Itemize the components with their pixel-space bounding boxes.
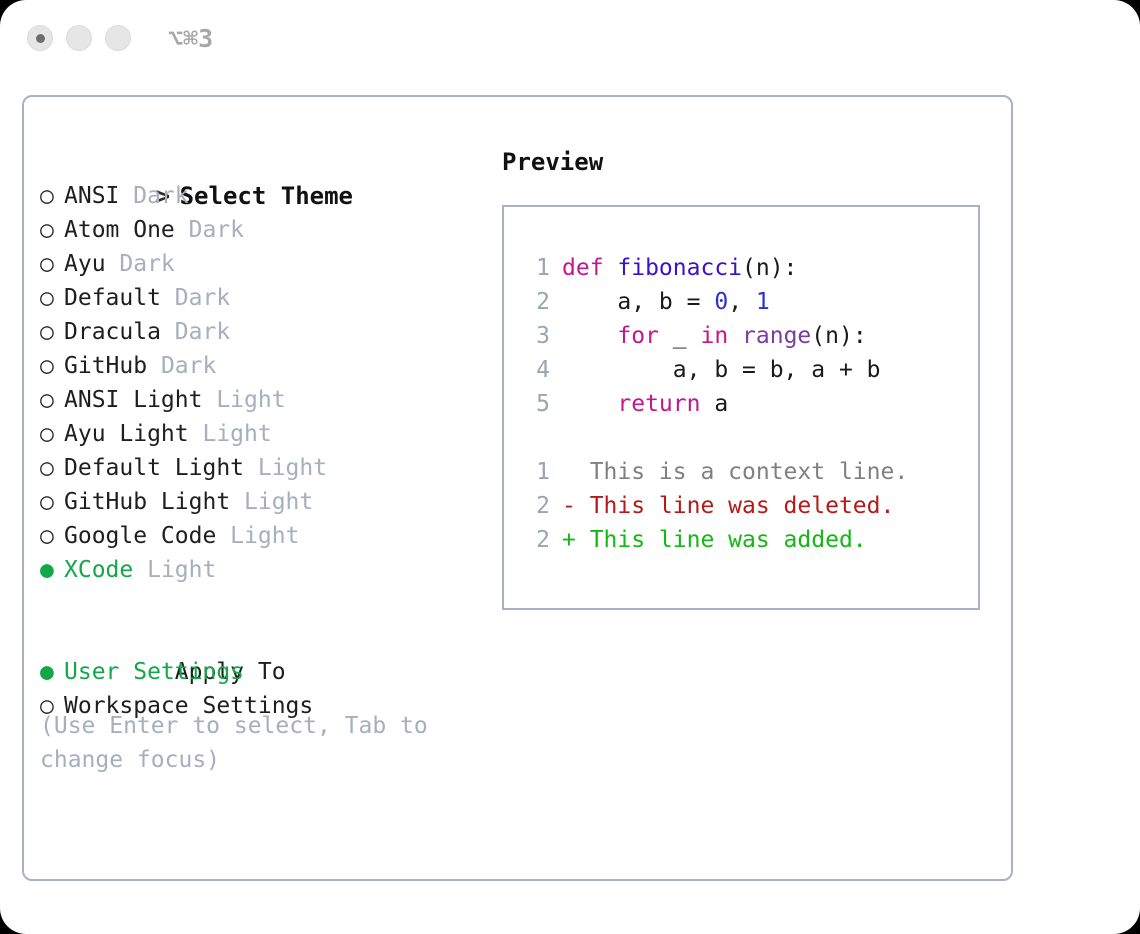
theme-list-item[interactable]: ○Default Dark	[40, 281, 490, 315]
select-theme-header-label: Select Theme	[180, 182, 353, 210]
code-line: 3 for _ in range(n):	[504, 319, 978, 353]
theme-name: ANSI	[64, 183, 119, 209]
keyboard-shortcut-label: ⌥⌘3	[168, 24, 213, 54]
theme-kind-badge: Dark	[119, 183, 188, 209]
theme-name: GitHub	[64, 353, 147, 379]
code-line-number: 4	[524, 353, 550, 387]
theme-name: Atom One	[64, 217, 175, 243]
code-line: 5 return a	[504, 387, 978, 421]
code-line-number: 3	[524, 319, 550, 353]
code-token: 1	[756, 289, 770, 315]
code-line-number: 2	[524, 285, 550, 319]
theme-kind-badge: Dark	[147, 353, 216, 379]
code-line-number: 1	[524, 251, 550, 285]
theme-selector-column: >Select Theme ○ANSI Dark○Atom One Dark○A…	[40, 145, 490, 723]
code-token: ,	[728, 289, 756, 315]
diff-line-number: 2	[524, 489, 550, 523]
diff-line-number: 2	[524, 523, 550, 557]
radio-unselected-icon: ○	[40, 281, 64, 315]
radio-unselected-icon: ○	[40, 213, 64, 247]
theme-name: XCode	[64, 557, 133, 583]
diff-line-text: + This line was added.	[562, 527, 867, 553]
radio-selected-icon: ●	[40, 553, 64, 587]
preview-column: Preview 1def fibonacci(n):2 a, b = 0, 13…	[502, 145, 992, 610]
theme-name: Default	[64, 285, 161, 311]
radio-unselected-icon: ○	[40, 315, 64, 349]
code-token: a, b =	[562, 289, 714, 315]
theme-list-item[interactable]: ○Atom One Dark	[40, 213, 490, 247]
code-token: range	[742, 323, 811, 349]
theme-kind-badge: Light	[244, 455, 327, 481]
theme-name: Google Code	[64, 523, 216, 549]
radio-unselected-icon: ○	[40, 383, 64, 417]
theme-kind-badge: Light	[133, 557, 216, 583]
radio-unselected-icon: ○	[40, 247, 64, 281]
code-token: 0	[714, 289, 728, 315]
code-line: 1def fibonacci(n):	[504, 251, 978, 285]
diff-line: 1 This is a context line.	[504, 455, 978, 489]
radio-selected-icon: ●	[40, 655, 64, 689]
theme-name: Ayu Light	[64, 421, 189, 447]
diff-line-text: - This line was deleted.	[562, 493, 894, 519]
select-theme-header: >Select Theme	[40, 145, 490, 179]
code-line: 4 a, b = b, a + b	[504, 353, 978, 387]
theme-list-item[interactable]: ○ANSI Light Light	[40, 383, 490, 417]
theme-list-item[interactable]: ○Dracula Dark	[40, 315, 490, 349]
theme-list: ○ANSI Dark○Atom One Dark○Ayu Dark○Defaul…	[40, 179, 490, 587]
diff-line: 2+ This line was added.	[504, 523, 978, 557]
theme-name: GitHub Light	[64, 489, 230, 515]
theme-list-item[interactable]: ●XCode Light	[40, 553, 490, 587]
radio-unselected-icon: ○	[40, 451, 64, 485]
code-token: a, b = b, a + b	[562, 357, 881, 383]
code-token: for	[562, 323, 673, 349]
apply-to-label-row: ○Apply To	[40, 621, 490, 655]
radio-unselected-icon: ○	[40, 179, 64, 213]
theme-kind-badge: Light	[202, 387, 285, 413]
apply-to-item-label: User Settings	[64, 659, 244, 685]
preview-title: Preview	[502, 145, 992, 179]
theme-list-item[interactable]: ○GitHub Dark	[40, 349, 490, 383]
title-bar: ⌥⌘3	[0, 0, 1140, 78]
radio-unselected-icon: ○	[40, 349, 64, 383]
theme-kind-badge: Light	[216, 523, 299, 549]
radio-unselected-icon: ○	[40, 485, 64, 519]
list-spacer	[40, 587, 490, 621]
preview-box: 1def fibonacci(n):2 a, b = 0, 13 for _ i…	[502, 205, 980, 610]
active-indicator-dot	[36, 34, 45, 43]
window-zoom-button[interactable]	[105, 25, 131, 51]
code-token: fibonacci	[617, 255, 742, 281]
code-diff-separator	[504, 421, 978, 455]
window-close-button[interactable]	[27, 25, 53, 51]
theme-list-item[interactable]: ○Default Light Light	[40, 451, 490, 485]
code-token: def	[562, 255, 617, 281]
keyboard-hint-text: (Use Enter to select, Tab to change focu…	[40, 709, 460, 777]
diff-sample: 1 This is a context line.2- This line wa…	[504, 455, 978, 557]
theme-name: ANSI Light	[64, 387, 202, 413]
code-sample: 1def fibonacci(n):2 a, b = 0, 13 for _ i…	[504, 251, 978, 421]
theme-name: Ayu	[64, 251, 106, 277]
theme-kind-badge: Dark	[161, 319, 230, 345]
code-line-number: 5	[524, 387, 550, 421]
theme-name: Default Light	[64, 455, 244, 481]
code-token: return	[562, 391, 714, 417]
theme-kind-badge: Dark	[106, 251, 175, 277]
theme-kind-badge: Light	[189, 421, 272, 447]
code-token: in	[700, 323, 742, 349]
theme-list-item[interactable]: ○GitHub Light Light	[40, 485, 490, 519]
diff-line: 2- This line was deleted.	[504, 489, 978, 523]
code-token: a	[714, 391, 728, 417]
radio-unselected-icon: ○	[40, 417, 64, 451]
theme-name: Dracula	[64, 319, 161, 345]
diff-line-text: This is a context line.	[562, 459, 908, 485]
theme-kind-badge: Dark	[175, 217, 244, 243]
theme-kind-badge: Dark	[161, 285, 230, 311]
main-panel: >Select Theme ○ANSI Dark○Atom One Dark○A…	[22, 95, 1013, 881]
theme-kind-badge: Light	[230, 489, 313, 515]
code-token: _	[673, 323, 701, 349]
app-window: ⌥⌘3 >Select Theme ○ANSI Dark○Atom One Da…	[0, 0, 1140, 934]
theme-list-item[interactable]: ○Google Code Light	[40, 519, 490, 553]
radio-unselected-icon: ○	[40, 519, 64, 553]
code-line: 2 a, b = 0, 1	[504, 285, 978, 319]
code-token: (n):	[811, 323, 866, 349]
window-minimize-button[interactable]	[66, 25, 92, 51]
code-token: (n):	[742, 255, 797, 281]
traffic-light-buttons	[27, 25, 131, 51]
theme-list-item[interactable]: ○Ayu Dark	[40, 247, 490, 281]
diff-line-number: 1	[524, 455, 550, 489]
theme-list-item[interactable]: ○Ayu Light Light	[40, 417, 490, 451]
